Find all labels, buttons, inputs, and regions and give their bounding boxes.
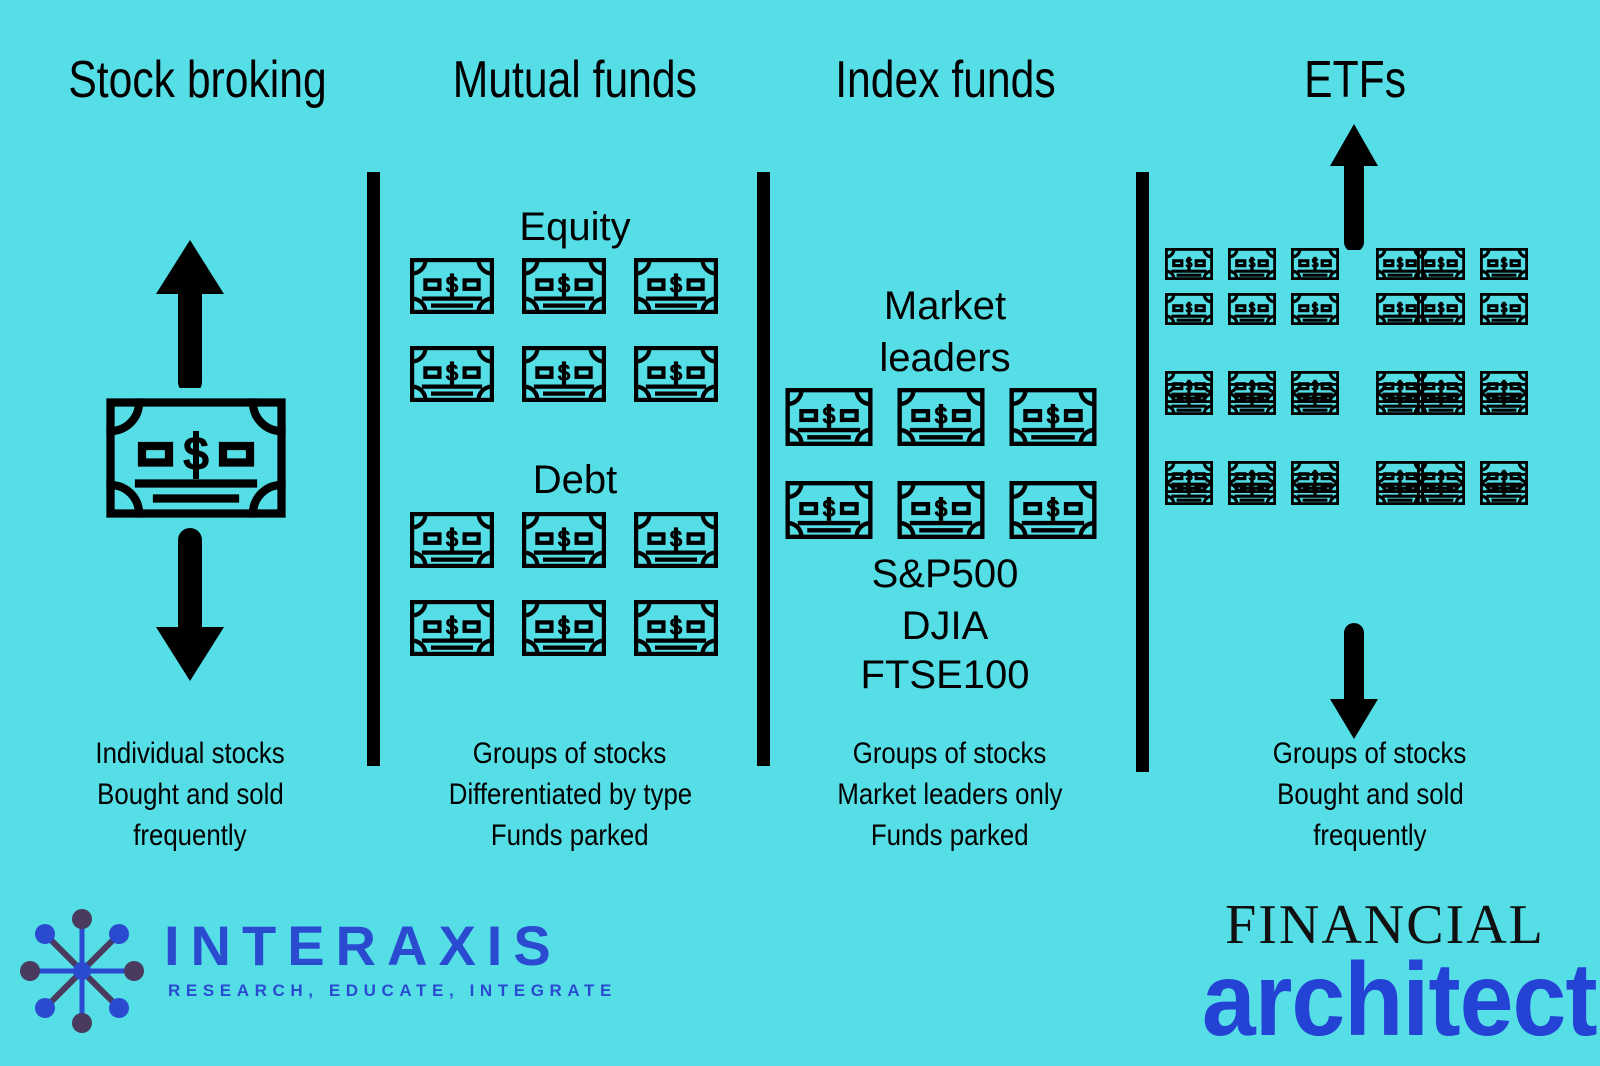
banknote-dollar-icon: $ <box>522 600 606 656</box>
banknote-dollar-icon: $ <box>1228 473 1276 505</box>
banknote-dollar-icon: $ <box>522 346 606 402</box>
caption-line: Groups of stocks <box>473 733 667 774</box>
banknote-dollar-icon: $ <box>1165 248 1213 280</box>
index-name-0: S&P500 <box>800 552 1090 597</box>
index-name-2: FTSE100 <box>800 653 1090 698</box>
caption-line: frequently <box>133 815 246 856</box>
index-name-text: FTSE100 <box>861 653 1030 697</box>
banknote-dollar-icon: $ <box>1291 293 1339 325</box>
column-header-mutual-funds: Mutual funds <box>425 50 725 110</box>
banknote-dollar-icon: $ <box>1228 383 1276 415</box>
banknote-dollar-icon: $ <box>1228 248 1276 280</box>
group-label-equity: Equity <box>430 202 720 252</box>
banknote-dollar-icon: $ <box>1009 481 1097 539</box>
banknote-dollar-icon: $ <box>1480 383 1528 415</box>
banknote-dollar-icon: $ <box>1165 383 1213 415</box>
banknote-dollar-icon: $ <box>634 258 718 314</box>
caption-line: Funds parked <box>491 815 649 856</box>
banknote-dollar-icon: $ <box>1480 293 1528 325</box>
header-text: Stock broking <box>68 50 326 110</box>
caption-line: Bought and sold <box>97 774 283 815</box>
banknote-grid-debt: $$$$$$ <box>410 512 746 688</box>
banknote-dollar-icon: $ <box>1291 383 1339 415</box>
banknote-dollar-icon-large: $ <box>106 398 286 518</box>
infographic-canvas: Stock broking Mutual funds Index funds E… <box>0 0 1600 1066</box>
divider-bar-3 <box>1136 172 1149 772</box>
caption-stock-broking: Individual stocks Bought and sold freque… <box>35 733 345 856</box>
banknote-dollar-icon: $ <box>410 512 494 568</box>
caption-line: Groups of stocks <box>1273 733 1467 774</box>
banknote-dollar-icon: $ <box>1417 383 1465 415</box>
caption-line: frequently <box>1313 815 1426 856</box>
column-header-index-funds: Index funds <box>795 50 1095 110</box>
index-name-1: DJIA <box>800 604 1090 649</box>
index-name-text: DJIA <box>902 604 989 648</box>
banknote-dollar-icon: $ <box>522 258 606 314</box>
fa-logo-line2: architects <box>1185 941 1585 1060</box>
header-text: ETFs <box>1304 50 1406 110</box>
arrow-up-icon-stock-broking <box>150 238 230 388</box>
caption-line: Individual stocks <box>95 733 284 774</box>
banknote-dollar-icon: $ <box>410 258 494 314</box>
column-header-stock-broking: Stock broking <box>40 50 340 110</box>
arrow-down-icon-stock-broking <box>150 528 230 683</box>
banknote-dollar-icon: $ <box>634 346 718 402</box>
banknote-dollar-icon: $ <box>785 388 873 446</box>
banknote-dollar-icon: $ <box>1165 293 1213 325</box>
column-header-etfs: ETFs <box>1215 50 1495 110</box>
banknote-dollar-icon: $ <box>1480 248 1528 280</box>
group-label-market-leaders: Market leaders <box>800 280 1090 384</box>
divider-bar-2 <box>757 172 770 766</box>
financial-architects-logo: FINANCIAL architects <box>1185 893 1585 1058</box>
interaxis-logo: INTERAXIS RESEARCH, EDUCATE, INTEGRATE <box>16 893 576 1053</box>
arrow-down-icon-etfs <box>1326 623 1382 741</box>
caption-etfs: Groups of stocks Bought and sold frequen… <box>1215 733 1525 856</box>
banknote-dollar-icon: $ <box>1417 473 1465 505</box>
banknote-dollar-icon: $ <box>1165 473 1213 505</box>
banknote-dollar-icon: $ <box>1291 473 1339 505</box>
caption-line: Market leaders only <box>837 774 1062 815</box>
banknote-dollar-icon: $ <box>897 388 985 446</box>
banknote-dollar-icon: $ <box>1009 388 1097 446</box>
caption-index-funds: Groups of stocks Market leaders only Fun… <box>790 733 1110 856</box>
arrow-up-icon-etfs <box>1326 122 1382 250</box>
caption-line: Differentiated by type <box>448 774 691 815</box>
banknote-grid-equity: $$$$$$ <box>410 258 746 434</box>
caption-mutual-funds: Groups of stocks Differentiated by type … <box>400 733 740 856</box>
group-label-text: leaders <box>879 336 1010 380</box>
banknote-dollar-icon: $ <box>1417 248 1465 280</box>
banknote-dollar-icon: $ <box>634 600 718 656</box>
banknote-grid-index-funds: $$$$$$ <box>785 388 1121 574</box>
banknote-grid-etfs: $$$$$$$$$$$$$$$$$$$$$$$$$$$$$$$$$$$$ <box>1165 248 1543 518</box>
group-label-text: Debt <box>533 458 618 502</box>
divider-bar-1 <box>367 172 380 766</box>
banknote-dollar-icon: $ <box>522 512 606 568</box>
index-name-text: S&P500 <box>872 552 1019 596</box>
asterisk-network-icon <box>16 905 148 1037</box>
group-label-text: Equity <box>519 205 630 249</box>
banknote-dollar-icon: $ <box>410 600 494 656</box>
banknote-dollar-icon: $ <box>410 346 494 402</box>
banknote-dollar-icon: $ <box>1228 293 1276 325</box>
banknote-dollar-icon: $ <box>1417 293 1465 325</box>
banknote-dollar-icon: $ <box>1480 473 1528 505</box>
caption-line: Bought and sold <box>1277 774 1463 815</box>
fa-logo-line2-text: architects <box>1202 941 1600 1060</box>
banknote-dollar-icon: $ <box>634 512 718 568</box>
banknote-dollar-icon: $ <box>785 481 873 539</box>
banknote-dollar-icon: $ <box>1291 248 1339 280</box>
interaxis-wordmark: INTERAXIS <box>164 913 562 978</box>
caption-line: Groups of stocks <box>853 733 1047 774</box>
header-text: Index funds <box>835 50 1055 110</box>
header-text: Mutual funds <box>453 50 697 110</box>
group-label-debt: Debt <box>430 455 720 505</box>
banknote-dollar-icon: $ <box>897 481 985 539</box>
interaxis-tagline: RESEARCH, EDUCATE, INTEGRATE <box>168 981 617 1001</box>
group-label-text: Market <box>884 284 1006 328</box>
caption-line: Funds parked <box>871 815 1029 856</box>
